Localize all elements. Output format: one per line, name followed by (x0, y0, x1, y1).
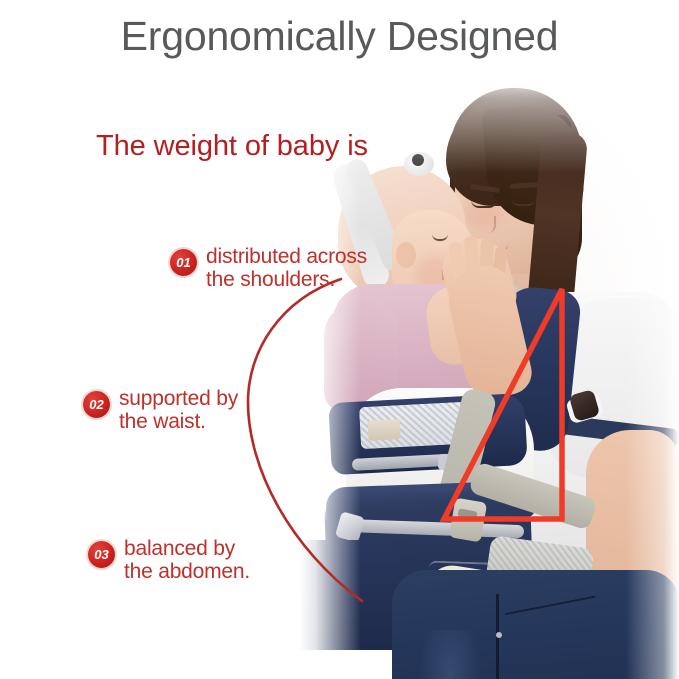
jeans-fade-highlight (418, 630, 482, 679)
page-title: Ergonomically Designed (0, 14, 679, 60)
carrier-lower-panel (300, 540, 400, 650)
jeans-rivet (496, 632, 502, 638)
callout-01: 01 distributed across the shoulders. (170, 249, 367, 291)
callout-badge-02: 02 (83, 391, 110, 418)
callout-text-03: balanced by the abdomen. (124, 538, 250, 583)
callout-badge-01: 01 (170, 249, 197, 276)
mother-eye-left (471, 200, 497, 208)
carrier-brand-tag (367, 419, 400, 441)
carrier-buckle (449, 498, 487, 543)
baby-headband-bow-knot (412, 154, 424, 166)
callout-02: 02 supported by the waist. (83, 391, 238, 433)
callout-text-02: supported by the waist. (119, 388, 238, 433)
subtitle: The weight of baby is (96, 131, 368, 163)
callout-text-01: distributed across the shoulders. (206, 246, 367, 291)
marketing-image: Ergonomically Designed The weight of bab… (0, 0, 679, 679)
callout-badge-03: 03 (88, 541, 115, 568)
baby-ear (396, 242, 416, 268)
callout-03: 03 balanced by the abdomen. (88, 541, 250, 583)
